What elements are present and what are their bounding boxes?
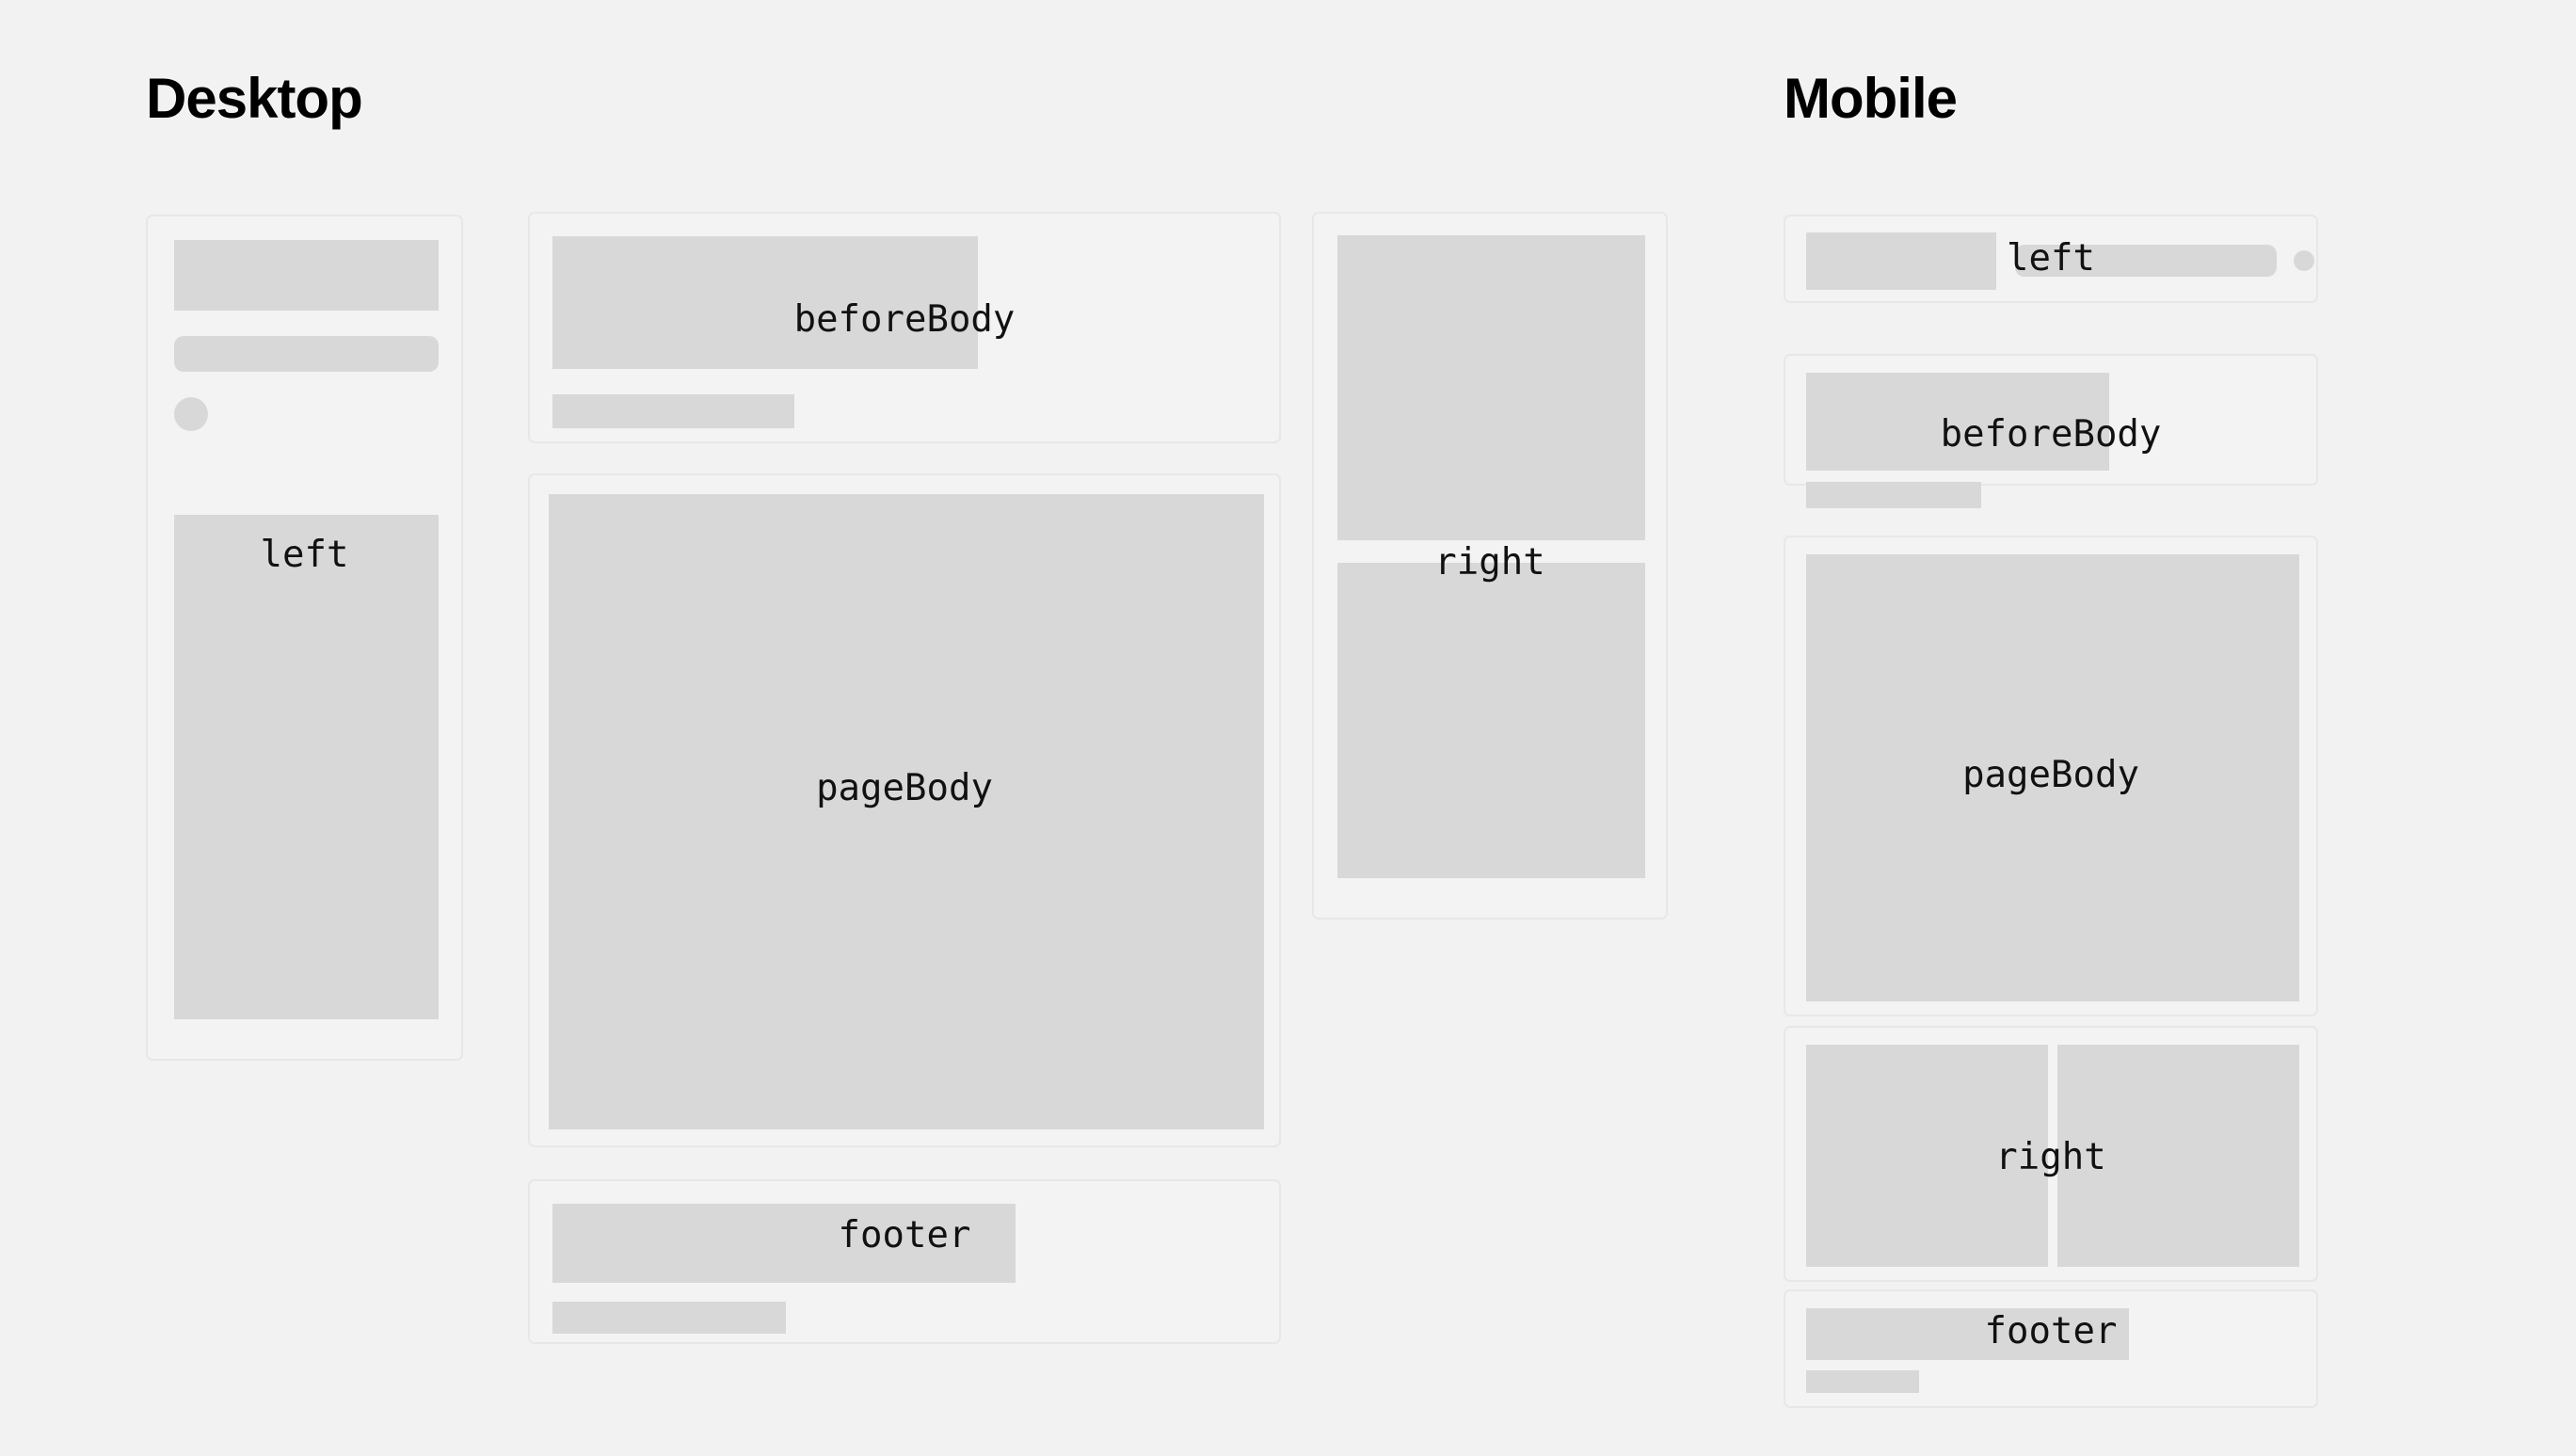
- mobile-left-slot-panel[interactable]: [1784, 215, 2318, 303]
- mobile-right-slot-panel[interactable]: [1784, 1026, 2318, 1282]
- placeholder-tall-block: [174, 515, 439, 1019]
- placeholder-small-bar: [552, 1302, 786, 1334]
- placeholder-bar-block: [174, 336, 439, 372]
- desktop-section-title: Desktop: [146, 71, 362, 127]
- placeholder-dot-block: [174, 397, 208, 431]
- placeholder-right-block: [2057, 1045, 2299, 1267]
- placeholder-small-bar: [552, 394, 794, 428]
- placeholder-dot-block: [2294, 250, 2314, 271]
- desktop-pagebody-slot-panel[interactable]: [528, 473, 1281, 1147]
- placeholder-block: [1806, 232, 1996, 290]
- desktop-footer-slot-panel[interactable]: [528, 1179, 1281, 1344]
- placeholder-upper-block: [1337, 235, 1645, 540]
- placeholder-lower-block: [1337, 563, 1645, 878]
- placeholder-wide-block: [1806, 1308, 2129, 1360]
- placeholder-wide-block: [552, 1204, 1016, 1283]
- placeholder-large-block: [1806, 373, 2109, 471]
- mobile-footer-slot-panel[interactable]: [1784, 1289, 2318, 1408]
- placeholder-large-block: [1806, 554, 2299, 1001]
- placeholder-left-block: [1806, 1045, 2048, 1267]
- placeholder-large-block: [552, 236, 978, 369]
- placeholder-small-bar: [1806, 1370, 1919, 1393]
- placeholder-large-block: [549, 494, 1264, 1129]
- mobile-pagebody-slot-panel[interactable]: [1784, 536, 2318, 1016]
- mobile-section-title: Mobile: [1784, 71, 1957, 127]
- desktop-beforebody-slot-panel[interactable]: [528, 212, 1281, 443]
- placeholder-small-bar: [1806, 482, 1981, 508]
- mobile-beforebody-slot-panel[interactable]: [1784, 354, 2318, 486]
- desktop-left-slot-panel[interactable]: [146, 215, 463, 1061]
- desktop-right-slot-panel[interactable]: [1312, 212, 1668, 920]
- placeholder-header-block: [174, 240, 439, 311]
- placeholder-bar-block: [2015, 245, 2277, 277]
